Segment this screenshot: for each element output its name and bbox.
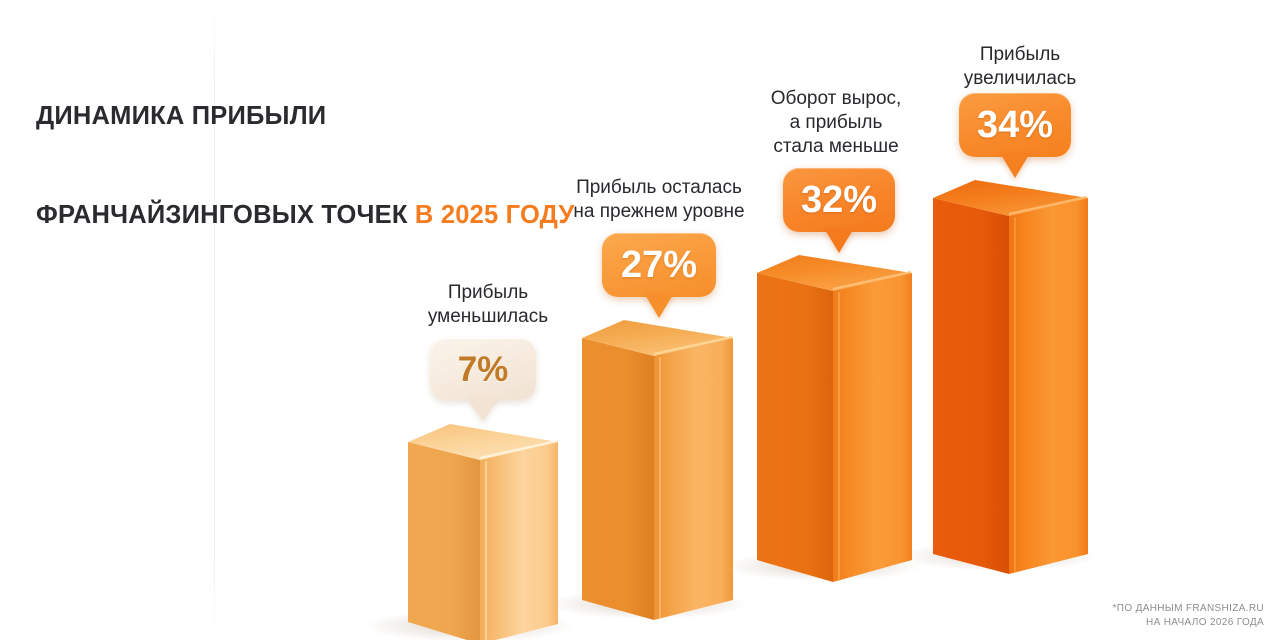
callout-tail	[468, 398, 498, 421]
bar-3-front	[833, 273, 912, 582]
bar-4-front	[1009, 198, 1088, 574]
bar-3-value: 32%	[801, 181, 877, 219]
bar-1-category-label: Прибыль уменьшилась	[393, 281, 583, 329]
bar-1-side	[408, 442, 480, 640]
bar-2[interactable]	[582, 320, 733, 620]
bar-chart: Прибыль уменьшилась Прибыль осталась на …	[0, 0, 1280, 640]
bar-3-value-callout[interactable]: 32%	[783, 168, 895, 232]
bar-1-front	[480, 442, 558, 640]
bar-3-category-label: Оборот вырос, а прибыль стала меньше	[748, 87, 924, 159]
bar-4-category-label: Прибыль увеличилась	[930, 43, 1110, 91]
callout-tail	[824, 228, 854, 253]
bar-chart-svg	[0, 0, 1280, 640]
bar-2-value: 27%	[621, 246, 697, 284]
bar-4-value-callout[interactable]: 34%	[959, 93, 1071, 157]
callout-tail	[644, 293, 674, 318]
bar-4-side	[933, 198, 1009, 574]
source-footnote: *ПО ДАННЫМ FRANSHIZA.RU НА НАЧАЛО 2026 Г…	[1113, 602, 1264, 630]
bar-1[interactable]	[408, 424, 558, 640]
bar-2-side	[582, 338, 654, 620]
footnote-line-1: *ПО ДАННЫМ FRANSHIZA.RU	[1113, 602, 1264, 616]
bar-3-side	[757, 273, 833, 582]
bar-3[interactable]	[757, 255, 912, 582]
bar-4[interactable]	[933, 180, 1088, 574]
bar-2-value-callout[interactable]: 27%	[602, 233, 716, 297]
bar-2-category-label: Прибыль осталась на прежнем уровне	[553, 176, 765, 224]
bar-1-value: 7%	[458, 352, 509, 387]
infographic-canvas: ДИНАМИКА ПРИБЫЛИ ФРАНЧАЙЗИНГОВЫХ ТОЧЕК В…	[0, 0, 1280, 640]
callout-tail	[1000, 153, 1030, 178]
bar-2-front	[654, 338, 733, 620]
bar-1-value-callout[interactable]: 7%	[430, 338, 536, 400]
bar-4-value: 34%	[977, 106, 1053, 144]
footnote-line-2: НА НАЧАЛО 2026 ГОДА	[1113, 616, 1264, 630]
